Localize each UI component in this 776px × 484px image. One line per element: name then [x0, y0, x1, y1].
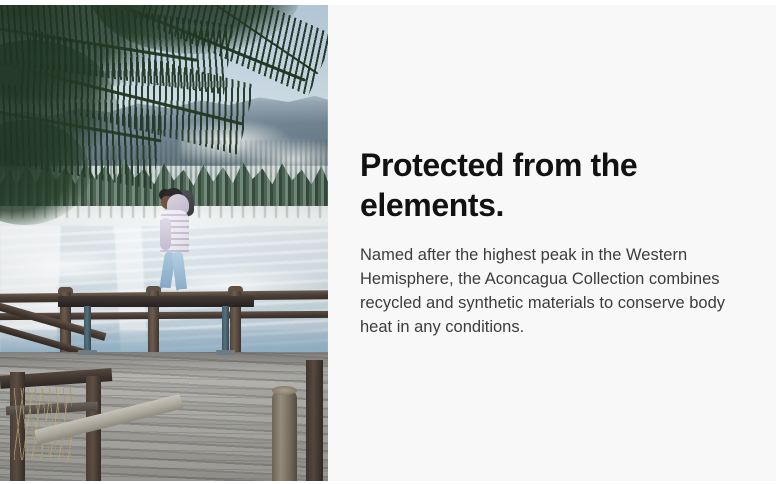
promo-image	[0, 0, 328, 484]
right-dock-post	[306, 360, 323, 484]
ice-patch-left	[0, 246, 138, 286]
legs	[162, 252, 188, 292]
jacket-arm	[160, 218, 171, 250]
wooden-piling	[272, 388, 297, 484]
copy-inner: Protected from the elements. Named after…	[360, 145, 754, 339]
bench-leg-right	[222, 306, 229, 352]
bench-foot-right	[216, 350, 235, 355]
promo-headline: Protected from the elements.	[360, 145, 660, 225]
leg-front	[172, 251, 188, 292]
winter-lake-photo	[0, 0, 328, 484]
bench-leg-left	[84, 306, 91, 352]
bench-foot-left	[78, 350, 97, 355]
person-walking	[155, 188, 201, 300]
promo-section: Protected from the elements. Named after…	[0, 0, 776, 484]
wooden-piling-top	[272, 386, 297, 395]
promo-body-text: Named after the highest peak in the West…	[360, 243, 754, 339]
top-white-strip	[0, 0, 776, 5]
promo-copy-pane: Protected from the elements. Named after…	[328, 0, 776, 484]
